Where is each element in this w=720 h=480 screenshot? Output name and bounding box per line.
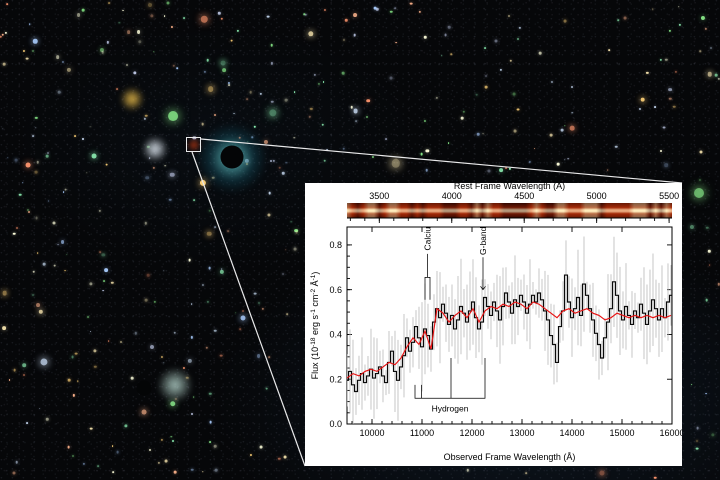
x-axis-tick-label: 10000: [359, 428, 384, 438]
top-axis-title: Rest Frame Wavelength (Å): [454, 183, 565, 191]
data-layer: CalciumG-bandHydrogen: [346, 220, 673, 430]
top-axis-tick-label: 5500: [659, 191, 679, 201]
spectrum-strip-trace: [347, 203, 672, 218]
hydrogen-bracket: [415, 358, 485, 398]
x-axis-tick-label: 12000: [459, 428, 484, 438]
top-axis-tick-label: 4000: [442, 191, 462, 201]
figure-canvas: 35004000450050005500Rest Frame Wavelengt…: [0, 0, 720, 480]
y-axis-tick-label: 0.4: [329, 330, 342, 340]
x-axis-tick-label: 16000: [659, 428, 682, 438]
y-axis-title: Flux (10-18 erg s-1 cm-2 Å-1): [310, 272, 321, 380]
x-axis-tick-label: 11000: [410, 428, 434, 438]
y-axis-tick-label: 0.6: [329, 285, 342, 295]
spectrum-chart: 35004000450050005500Rest Frame Wavelengt…: [305, 183, 682, 466]
top-axis-tick-label: 4500: [514, 191, 534, 201]
annotation-hydrogen: Hydrogen: [432, 404, 469, 414]
x-axis-tick-label: 13000: [509, 428, 534, 438]
x-axis-tick-label: 14000: [559, 428, 584, 438]
error-bars: [347, 237, 671, 430]
spectrum-inset-panel: 35004000450050005500Rest Frame Wavelengt…: [305, 183, 682, 466]
calcium-bracket: [425, 277, 430, 299]
annotation-g-band: G-band: [478, 226, 488, 255]
target-galaxy-zoom-box: [186, 137, 201, 152]
annotation-calcium: Calcium: [423, 220, 433, 251]
y-axis-tick-label: 0.0: [329, 419, 342, 429]
x-axis-title: Observed Frame Wavelength (Å): [444, 452, 576, 462]
y-axis-tick-label: 0.2: [329, 374, 342, 384]
top-axis-tick-label: 5000: [587, 191, 607, 201]
x-axis-tick-label: 15000: [609, 428, 634, 438]
top-axis-tick-label: 3500: [369, 191, 389, 201]
y-axis-tick-label: 0.8: [329, 240, 342, 250]
